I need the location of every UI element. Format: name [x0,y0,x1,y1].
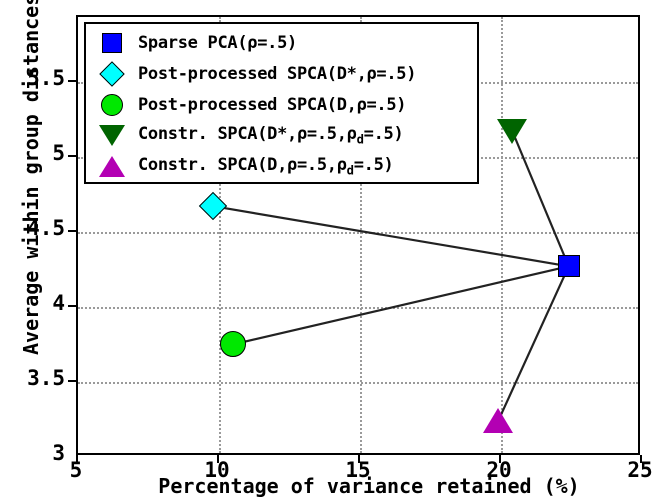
legend-label: Sparse PCA(ρ=.5) [138,33,297,53]
legend-marker-icon [95,33,129,53]
data-point-constr-spca-d [483,408,513,433]
y-tick-label: 5.5 [5,66,65,90]
y-tick-label: 4 [5,291,65,315]
plot-area: Sparse PCA(ρ=.5)Post-processed SPCA(D*,ρ… [76,15,640,455]
legend-item-4[interactable]: Constr. SPCA(D,ρ=.5,ρd=.5) [86,151,477,182]
y-tick [68,305,76,307]
legend-label: Constr. SPCA(D*,ρ=.5,ρd=.5) [138,124,403,146]
legend-item-3[interactable]: Constr. SPCA(D*,ρ=.5,ρd=.5) [86,120,477,151]
data-point-sparse-pca [558,255,580,277]
y-tick-label: 5 [5,141,65,165]
triangle-down-icon [99,125,125,146]
y-tick [68,380,76,382]
y-tick [68,80,76,82]
legend-marker-icon [95,94,129,116]
legend-item-1[interactable]: Post-processed SPCA(D*,ρ=.5) [86,58,477,89]
square-icon [102,33,122,53]
x-axis-title: Percentage of variance retained (%) [76,474,662,498]
connector-line [213,206,568,266]
legend-label-subscript: d [357,133,364,147]
legend-marker-icon [95,65,129,83]
diamond-icon [99,61,124,86]
y-tick [68,155,76,157]
y-tick-label: 3 [5,441,65,465]
legend-marker-icon [95,125,129,146]
scatter-chart: Average within group distances Sparse PC… [0,0,662,502]
data-point-constr-spca-dstar [497,119,527,144]
y-tick-label: 3.5 [5,366,65,390]
connector-line [498,266,569,421]
triangle-up-icon [99,156,125,177]
legend-item-2[interactable]: Post-processed SPCA(D,ρ=.5) [86,89,477,120]
legend-label: Constr. SPCA(D,ρ=.5,ρd=.5) [138,155,393,177]
y-tick [68,230,76,232]
legend-label-subscript: d [347,164,354,178]
legend-box: Sparse PCA(ρ=.5)Post-processed SPCA(D*,ρ… [84,22,479,184]
y-tick-label: 4.5 [5,216,65,240]
legend-label: Post-processed SPCA(D,ρ=.5) [138,95,406,115]
legend-label: Post-processed SPCA(D*,ρ=.5) [138,64,416,84]
legend-marker-icon [95,156,129,177]
legend-item-0[interactable]: Sparse PCA(ρ=.5) [86,27,477,58]
circle-icon [101,94,123,116]
connector-line [512,131,568,266]
connector-line [233,266,569,344]
